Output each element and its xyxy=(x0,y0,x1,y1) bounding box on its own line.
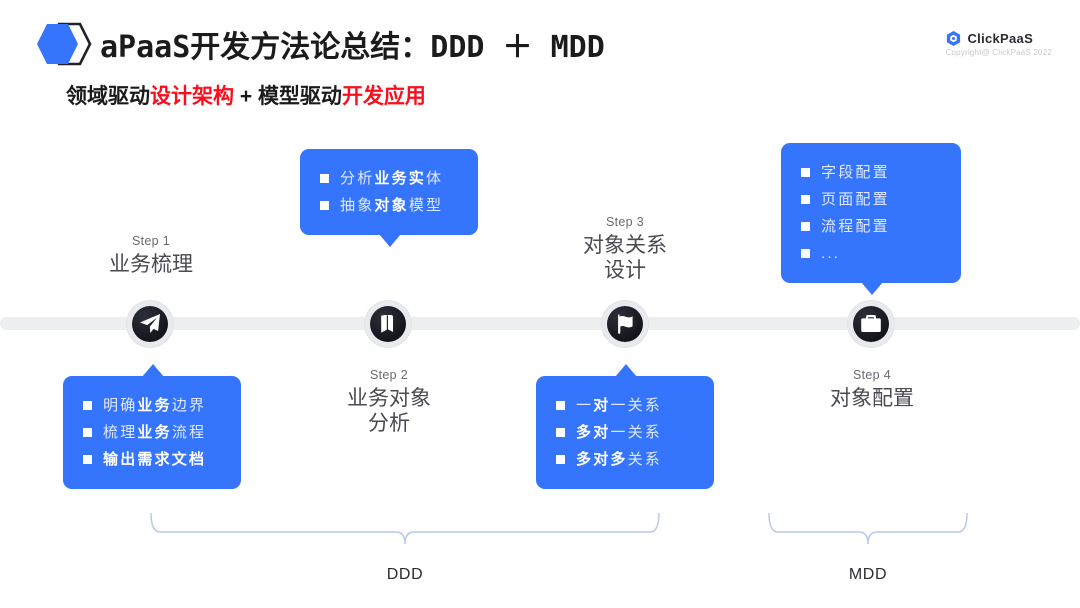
group-label-mdd: MDD xyxy=(768,566,968,584)
clickpaas-hexagon-icon xyxy=(945,30,962,47)
card-item: 页面配置 xyxy=(801,186,943,213)
bullet-square-icon xyxy=(83,401,92,410)
step-number: Step 1 xyxy=(66,234,236,248)
bullet-square-icon xyxy=(556,401,565,410)
subtitle-part-1: 设计架构 xyxy=(150,85,234,108)
bullet-square-icon xyxy=(801,222,810,231)
card-item-text: 抽象对象模型 xyxy=(340,198,443,213)
step-title-line: 业务对象 xyxy=(304,387,474,412)
step-card-step-4: 字段配置页面配置流程配置... xyxy=(781,143,961,283)
paper-plane-icon xyxy=(138,312,162,336)
step-card-step-2: 分析业务实体抽象对象模型 xyxy=(300,149,478,235)
brand-block: ClickPaaS Copyright@ ClickPaaS 2022 xyxy=(945,30,1052,57)
card-item-text: 流程配置 xyxy=(821,219,890,234)
subtitle-part-3: 模型驱动 xyxy=(258,85,342,108)
card-item-text: 明确业务边界 xyxy=(103,398,206,413)
card-item: 分析业务实体 xyxy=(320,165,460,192)
step-title-line: 分析 xyxy=(304,412,474,437)
step-title-line: 设计 xyxy=(540,259,710,284)
step-number: Step 2 xyxy=(304,368,474,382)
page-title: aPaaS开发方法论总结：DDD ＋ MDD xyxy=(100,22,605,66)
group-label-ddd: DDD xyxy=(150,566,660,584)
card-item: 字段配置 xyxy=(801,159,943,186)
timeline-node-step-2[interactable] xyxy=(365,301,411,347)
step-title: 对象配置 xyxy=(787,387,957,412)
subtitle-part-2: + xyxy=(234,85,258,108)
step-label-step-1: Step 1业务梳理 xyxy=(66,234,236,278)
flag-icon xyxy=(613,312,637,336)
card-pointer xyxy=(379,234,401,247)
card-item: 一对一关系 xyxy=(556,392,696,419)
bullet-square-icon xyxy=(556,428,565,437)
step-label-step-2: Step 2业务对象分析 xyxy=(304,368,474,437)
card-item-text: 多对一关系 xyxy=(576,425,662,440)
step-label-step-4: Step 4对象配置 xyxy=(787,368,957,412)
card-item: 明确业务边界 xyxy=(83,392,223,419)
step-card-step-3: 一对一关系多对一关系多对多关系 xyxy=(536,376,714,489)
step-number: Step 3 xyxy=(540,215,710,229)
book-icon xyxy=(376,312,400,336)
card-pointer xyxy=(861,282,883,295)
group-brace-ddd xyxy=(150,512,660,546)
card-item-list: 一对一关系多对一关系多对多关系 xyxy=(556,392,696,473)
bullet-square-icon xyxy=(320,174,329,183)
bullet-square-icon xyxy=(83,428,92,437)
slide-canvas: aPaaS开发方法论总结：DDD ＋ MDD 领域驱动设计架构 + 模型驱动开发… xyxy=(0,0,1080,608)
bullet-square-icon xyxy=(83,455,92,464)
card-item-list: 明确业务边界梳理业务流程输出需求文档 xyxy=(83,392,223,473)
bullet-square-icon xyxy=(801,168,810,177)
step-title: 业务对象分析 xyxy=(304,387,474,437)
copyright-text: Copyright@ ClickPaaS 2022 xyxy=(945,48,1052,57)
step-label-step-3: Step 3对象关系设计 xyxy=(540,215,710,284)
timeline-node-step-3[interactable] xyxy=(602,301,648,347)
subtitle-part-4: 开发应用 xyxy=(342,85,426,108)
bullet-square-icon xyxy=(320,201,329,210)
card-item-text: 字段配置 xyxy=(821,165,890,180)
brand-name: ClickPaaS xyxy=(967,31,1033,46)
step-card-step-1: 明确业务边界梳理业务流程输出需求文档 xyxy=(63,376,241,489)
card-item-text: 页面配置 xyxy=(821,192,890,207)
card-item-text: 梳理业务流程 xyxy=(103,425,206,440)
card-pointer xyxy=(615,364,637,377)
card-item: 梳理业务流程 xyxy=(83,419,223,446)
step-title-line: 对象关系 xyxy=(540,234,710,259)
card-pointer xyxy=(142,364,164,377)
briefcase-icon xyxy=(859,312,883,336)
card-item-text: 分析业务实体 xyxy=(340,171,443,186)
card-item: 流程配置 xyxy=(801,213,943,240)
card-item-text: ... xyxy=(821,246,840,261)
card-item: 多对多关系 xyxy=(556,446,696,473)
card-item: ... xyxy=(801,240,943,267)
bullet-square-icon xyxy=(556,455,565,464)
card-item-list: 字段配置页面配置流程配置... xyxy=(801,159,943,267)
step-title-line: 对象配置 xyxy=(787,387,957,412)
page-subtitle: 领域驱动设计架构 + 模型驱动开发应用 xyxy=(66,80,426,110)
card-item: 输出需求文档 xyxy=(83,446,223,473)
group-brace-mdd xyxy=(768,512,968,546)
hexagon-logo-icon xyxy=(33,20,93,68)
subtitle-part-0: 领域驱动 xyxy=(66,85,150,108)
card-item-text: 输出需求文档 xyxy=(103,452,206,467)
card-item-list: 分析业务实体抽象对象模型 xyxy=(320,165,460,219)
card-item-text: 一对一关系 xyxy=(576,398,662,413)
step-title: 对象关系设计 xyxy=(540,234,710,284)
timeline-node-step-4[interactable] xyxy=(848,301,894,347)
card-item: 多对一关系 xyxy=(556,419,696,446)
timeline-node-step-1[interactable] xyxy=(127,301,173,347)
step-title: 业务梳理 xyxy=(66,253,236,278)
step-title-line: 业务梳理 xyxy=(66,253,236,278)
card-item: 抽象对象模型 xyxy=(320,192,460,219)
card-item-text: 多对多关系 xyxy=(576,452,662,467)
bullet-square-icon xyxy=(801,249,810,258)
step-number: Step 4 xyxy=(787,368,957,382)
bullet-square-icon xyxy=(801,195,810,204)
